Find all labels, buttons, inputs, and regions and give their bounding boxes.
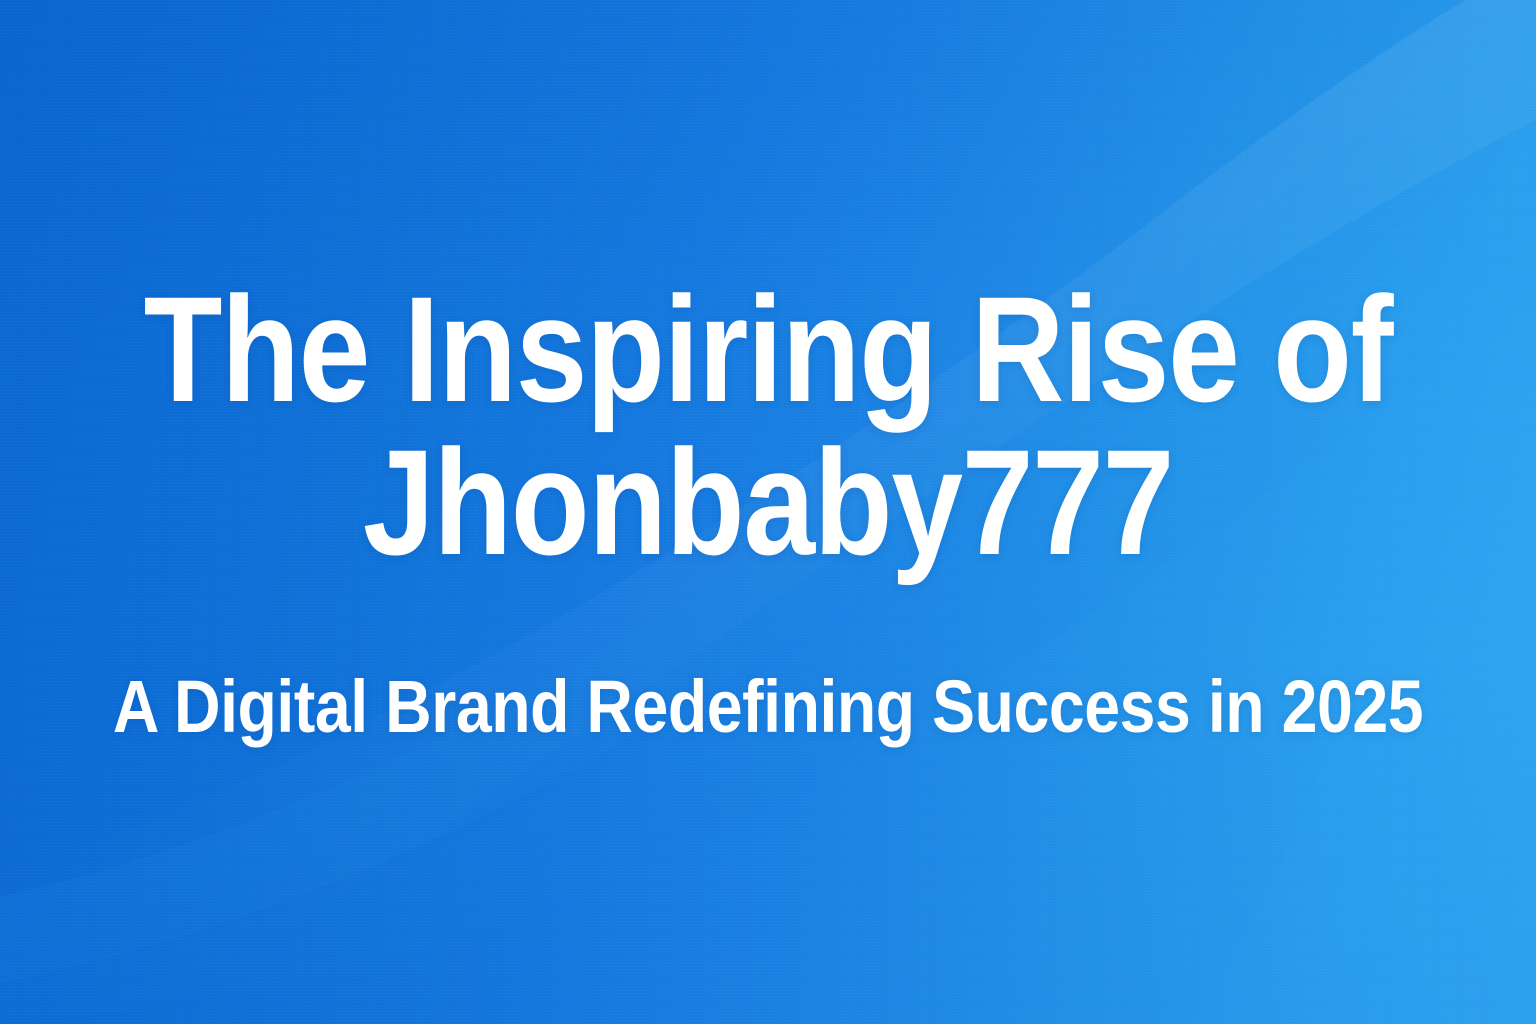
page-title-line-1: The Inspiring Rise of [144,275,1393,424]
banner-content: The Inspiring Rise of Jhonbaby777 A Digi… [0,0,1536,1024]
page-title-line-2: Jhonbaby777 [144,428,1393,577]
hero-banner: The Inspiring Rise of Jhonbaby777 A Digi… [0,0,1536,1024]
page-subtitle: A Digital Brand Redefining Success in 20… [113,664,1423,749]
page-title: The Inspiring Rise of Jhonbaby777 [144,275,1393,576]
